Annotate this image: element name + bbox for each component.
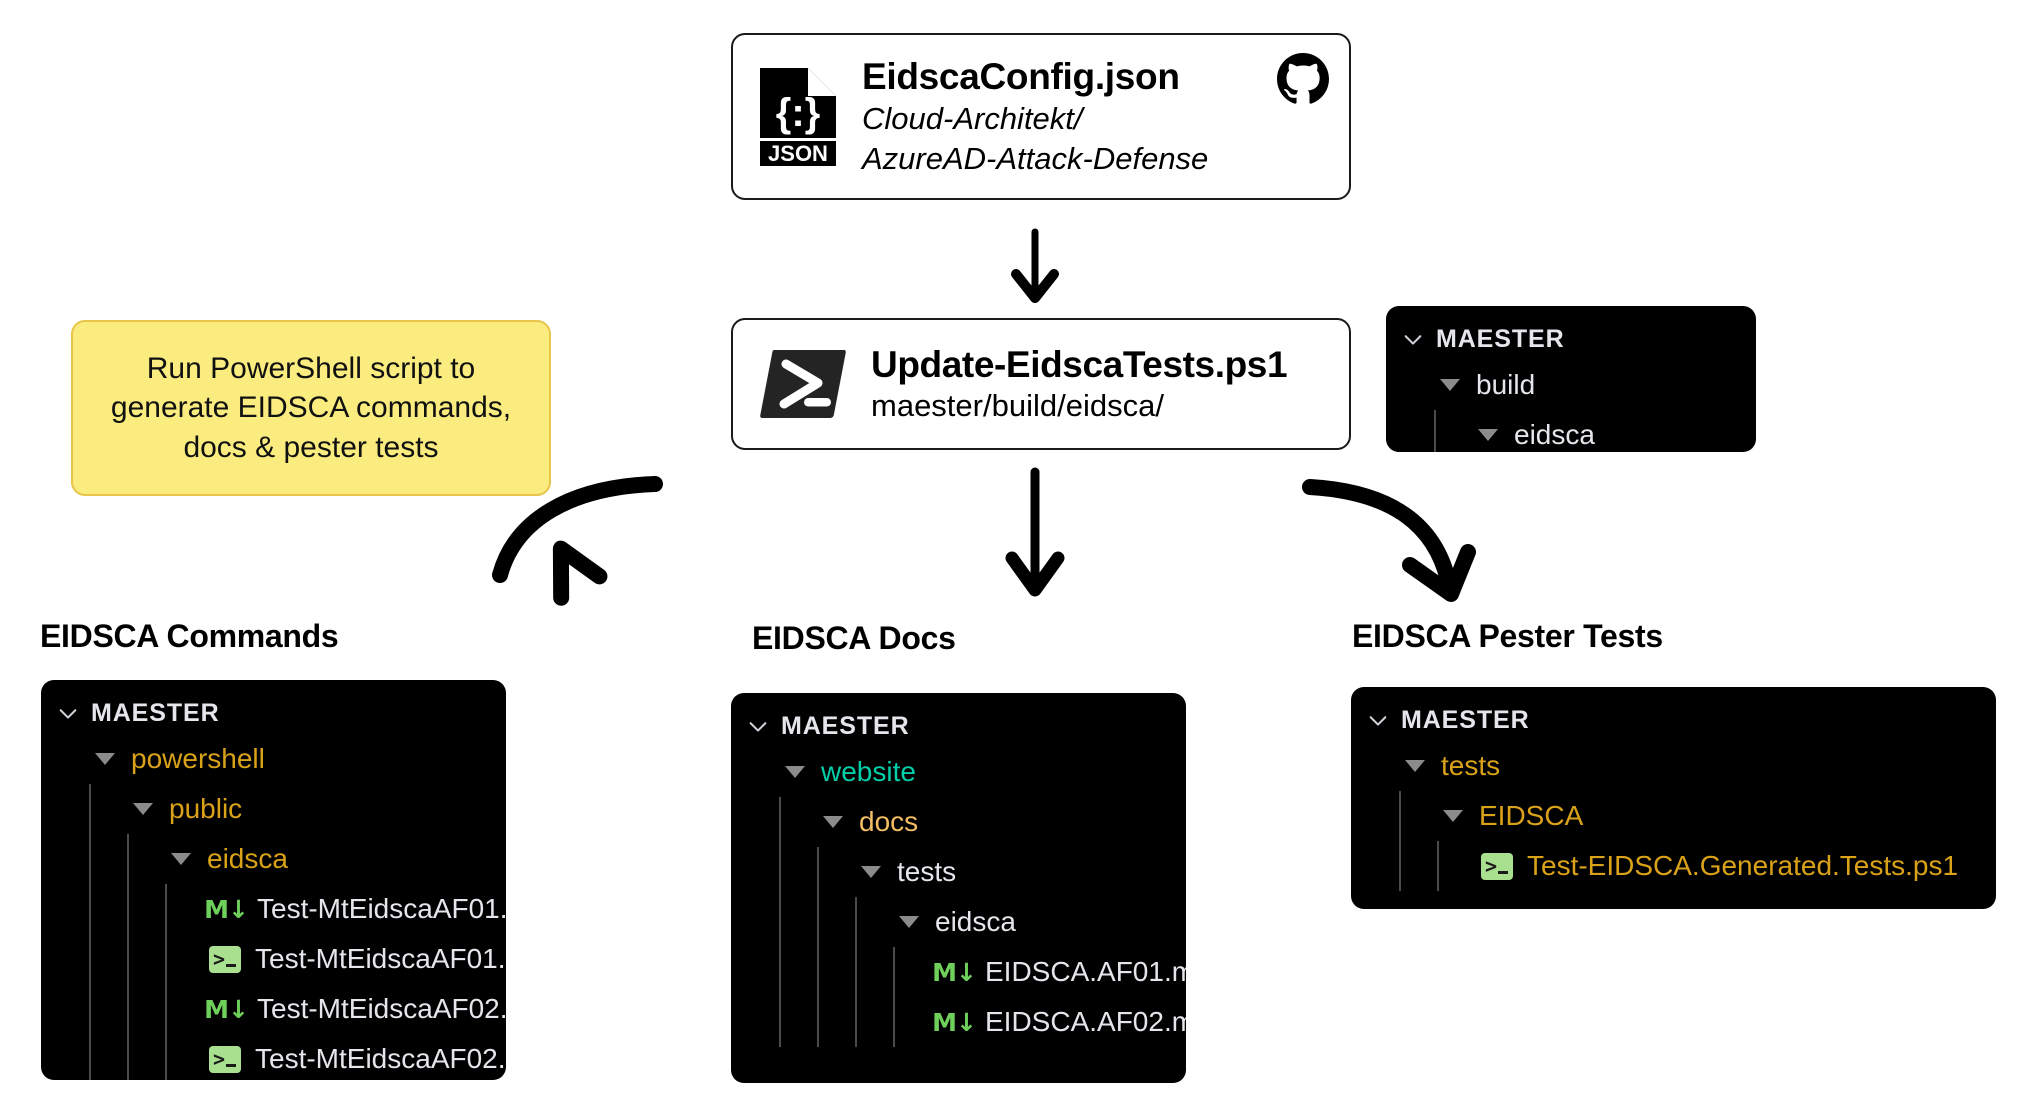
tree-row-content: Test-MtEidscaAF01.ps1 — [41, 943, 506, 975]
explorer-panel-commands[interactable]: MAESTERpowershellpubliceidscaM↓Test-MtEi… — [41, 680, 506, 1080]
tree-indent-guide — [779, 897, 781, 947]
tree-indent-guide — [855, 897, 857, 947]
arrow-json-to-script — [1016, 232, 1054, 298]
tree-row-content: build — [1386, 369, 1535, 401]
tree-indent-guide — [779, 797, 781, 847]
tree-file-row[interactable]: M↓EIDSCA.AF01.md — [731, 947, 1186, 997]
tree-indent-guide — [855, 947, 857, 997]
tree-folder-row[interactable]: EIDSCA — [1351, 791, 1996, 841]
tree-root-label: MAESTER — [781, 712, 910, 741]
markdown-file-icon: M↓ — [209, 996, 243, 1022]
tree-file-label: EIDSCA.AF02.md — [985, 1006, 1186, 1038]
tree-folder-row[interactable]: tests — [731, 847, 1186, 897]
tree-file-row[interactable]: Test-EIDSCA.Generated.Tests.ps1 — [1351, 841, 1996, 891]
tree-file-row[interactable]: Test-MtEidscaAF02.ps1 — [41, 1034, 506, 1080]
tree-indent-guide — [127, 884, 129, 934]
tree-indent-guide — [127, 834, 129, 884]
source-card-title: EidscaConfig.json — [862, 56, 1208, 97]
caret-down-icon[interactable] — [823, 816, 843, 828]
explorer-panel-pester[interactable]: MAESTERtestsEIDSCATest-EIDSCA.Generated.… — [1351, 687, 1996, 909]
arrow-script-to-commands — [500, 484, 655, 598]
tree-file-row[interactable]: M↓Test-MtEidscaAF01.md — [41, 884, 506, 934]
tree-indent-guide — [165, 934, 167, 984]
tree-folder-row[interactable]: docs — [731, 797, 1186, 847]
tree-indent-guide — [893, 947, 895, 997]
annotation-note: Run PowerShell script to generate EIDSCA… — [71, 320, 551, 496]
tree-folder-row[interactable]: powershell — [41, 734, 506, 784]
tree-indent-guide — [89, 834, 91, 884]
powershell-file-icon — [209, 946, 241, 973]
explorer-panel-docs[interactable]: MAESTERwebsitedocstestseidscaM↓EIDSCA.AF… — [731, 693, 1186, 1083]
tree-file-label: Test-MtEidscaAF02.md — [257, 993, 506, 1025]
chevron-down-icon — [57, 702, 79, 724]
powershell-file-icon — [1481, 853, 1513, 880]
section-title-pester-tests: EIDSCA Pester Tests — [1352, 618, 1663, 655]
source-card-owner: Cloud-Architekt/ — [862, 100, 1208, 137]
caret-down-icon[interactable] — [1478, 429, 1498, 441]
tree-indent-guide — [89, 884, 91, 934]
tree-folder-row[interactable]: tests — [1351, 741, 1996, 791]
markdown-file-icon: M↓ — [937, 959, 971, 985]
tree-row-content: Test-MtEidscaAF02.ps1 — [41, 1043, 506, 1075]
tree-folder-label: eidsca — [935, 906, 1016, 938]
tree-folder-label: build — [1476, 369, 1535, 401]
caret-down-icon[interactable] — [1405, 760, 1425, 772]
tree-indent-guide — [817, 847, 819, 897]
svg-text:JSON: JSON — [768, 141, 828, 166]
caret-down-icon[interactable] — [95, 753, 115, 765]
svg-text:{:}: {:} — [776, 91, 820, 135]
tree-indent-guide — [89, 784, 91, 834]
tree-folder-label: tests — [1441, 750, 1500, 782]
caret-down-icon[interactable] — [1443, 810, 1463, 822]
tree-indent-guide — [127, 984, 129, 1034]
section-title-commands: EIDSCA Commands — [40, 618, 338, 655]
tree-row-content: powershell — [41, 743, 265, 775]
caret-down-icon[interactable] — [785, 766, 805, 778]
tree-indent-guide — [1437, 841, 1439, 891]
chevron-down-icon — [747, 715, 769, 737]
tree-root-label: MAESTER — [1436, 325, 1565, 354]
tree-file-row[interactable]: M↓EIDSCA.AF02.md — [731, 997, 1186, 1047]
chevron-down-icon — [1402, 328, 1424, 350]
tree-folder-row[interactable]: eidsca — [41, 834, 506, 884]
tree-row-content: eidsca — [41, 843, 288, 875]
tree-folder-row[interactable]: build — [1386, 360, 1756, 410]
tree-file-label: Test-MtEidscaAF01.md — [257, 893, 506, 925]
tree-file-label: Test-EIDSCA.Generated.Tests.ps1 — [1527, 850, 1958, 882]
tree-folder-label: public — [169, 793, 242, 825]
caret-down-icon[interactable] — [1440, 379, 1460, 391]
tree-indent-guide — [779, 947, 781, 997]
tree-row-content: website — [731, 756, 916, 788]
github-icon[interactable] — [1277, 53, 1329, 105]
tree-folder-label: tests — [897, 856, 956, 888]
tree-row-content: public — [41, 793, 242, 825]
arrow-script-to-docs — [1012, 472, 1058, 590]
explorer-panel-build[interactable]: MAESTERbuildeidscaUpdate-EidscaTests.ps1 — [1386, 306, 1756, 452]
tree-row-content: Test-EIDSCA.Generated.Tests.ps1 — [1351, 850, 1958, 882]
tree-file-label: EIDSCA.AF01.md — [985, 956, 1186, 988]
section-title-docs: EIDSCA Docs — [752, 620, 956, 657]
tree-file-label: Test-MtEidscaAF02.ps1 — [255, 1043, 506, 1075]
tree-indent-guide — [779, 847, 781, 897]
tree-indent-guide — [165, 1034, 167, 1080]
tree-root-commands[interactable]: MAESTER — [41, 692, 506, 734]
arrow-script-to-pester — [1310, 487, 1468, 594]
tree-indent-guide — [893, 997, 895, 1047]
tree-root-label: MAESTER — [91, 699, 220, 728]
markdown-file-icon: M↓ — [209, 896, 243, 922]
tree-indent-guide — [89, 1034, 91, 1080]
tree-folder-label: eidsca — [207, 843, 288, 875]
tree-indent-guide — [165, 884, 167, 934]
caret-down-icon[interactable] — [133, 803, 153, 815]
json-file-icon: JSON {:} — [760, 68, 836, 166]
tree-folder-label: EIDSCA — [1479, 800, 1583, 832]
tree-root-build[interactable]: MAESTER — [1386, 318, 1756, 360]
tree-root-docs[interactable]: MAESTER — [731, 705, 1186, 747]
tree-row-content: tests — [1351, 750, 1500, 782]
tree-row-content: M↓EIDSCA.AF02.md — [731, 1006, 1186, 1038]
script-card-title: Update-EidscaTests.ps1 — [871, 344, 1287, 387]
tree-folder-label: website — [821, 756, 916, 788]
chevron-down-icon — [1367, 709, 1389, 731]
tree-row-content: M↓EIDSCA.AF01.md — [731, 956, 1186, 988]
diagram-canvas: JSON {:} EidscaConfig.json Cloud-Archite… — [0, 0, 2030, 1104]
tree-row-content: docs — [731, 806, 918, 838]
caret-down-icon[interactable] — [171, 853, 191, 865]
tree-indent-guide — [1399, 841, 1401, 891]
powershell-icon — [760, 346, 846, 422]
tree-indent-guide — [817, 897, 819, 947]
tree-row-content: M↓Test-MtEidscaAF02.md — [41, 993, 506, 1025]
source-config-card: JSON {:} EidscaConfig.json Cloud-Archite… — [731, 33, 1351, 200]
tree-folder-label: docs — [859, 806, 918, 838]
tree-indent-guide — [89, 934, 91, 984]
script-card-path: maester/build/eidsca/ — [871, 387, 1287, 424]
tree-indent-guide — [855, 997, 857, 1047]
tree-file-row[interactable]: M↓Test-MtEidscaAF02.md — [41, 984, 506, 1034]
source-card-repo: AzureAD-Attack-Defense — [862, 140, 1208, 177]
tree-indent-guide — [817, 997, 819, 1047]
tree-folder-row[interactable]: eidsca — [731, 897, 1186, 947]
markdown-file-icon: M↓ — [937, 1009, 971, 1035]
tree-folder-label: powershell — [131, 743, 265, 775]
tree-folder-row[interactable]: eidsca — [1386, 410, 1756, 452]
tree-row-content: eidsca — [1386, 419, 1595, 451]
script-card: Update-EidscaTests.ps1 maester/build/eid… — [731, 318, 1351, 450]
tree-indent-guide — [1434, 410, 1436, 452]
annotation-note-text: Run PowerShell script to generate EIDSCA… — [95, 349, 527, 468]
tree-indent-guide — [127, 934, 129, 984]
tree-folder-row[interactable]: public — [41, 784, 506, 834]
powershell-file-icon — [209, 1046, 241, 1073]
tree-folder-row[interactable]: website — [731, 747, 1186, 797]
tree-indent-guide — [165, 984, 167, 1034]
tree-indent-guide — [779, 997, 781, 1047]
caret-down-icon[interactable] — [899, 916, 919, 928]
tree-indent-guide — [127, 1034, 129, 1080]
tree-indent-guide — [1399, 791, 1401, 841]
tree-row-content: M↓Test-MtEidscaAF01.md — [41, 893, 506, 925]
tree-indent-guide — [89, 984, 91, 1034]
tree-file-row[interactable]: Test-MtEidscaAF01.ps1 — [41, 934, 506, 984]
tree-root-label: MAESTER — [1401, 706, 1530, 735]
tree-indent-guide — [817, 947, 819, 997]
caret-down-icon[interactable] — [861, 866, 881, 878]
tree-root-pester[interactable]: MAESTER — [1351, 699, 1996, 741]
tree-folder-label: eidsca — [1514, 419, 1595, 451]
tree-row-content: tests — [731, 856, 956, 888]
tree-file-label: Test-MtEidscaAF01.ps1 — [255, 943, 506, 975]
tree-row-content: EIDSCA — [1351, 800, 1583, 832]
tree-row-content: eidsca — [731, 906, 1016, 938]
